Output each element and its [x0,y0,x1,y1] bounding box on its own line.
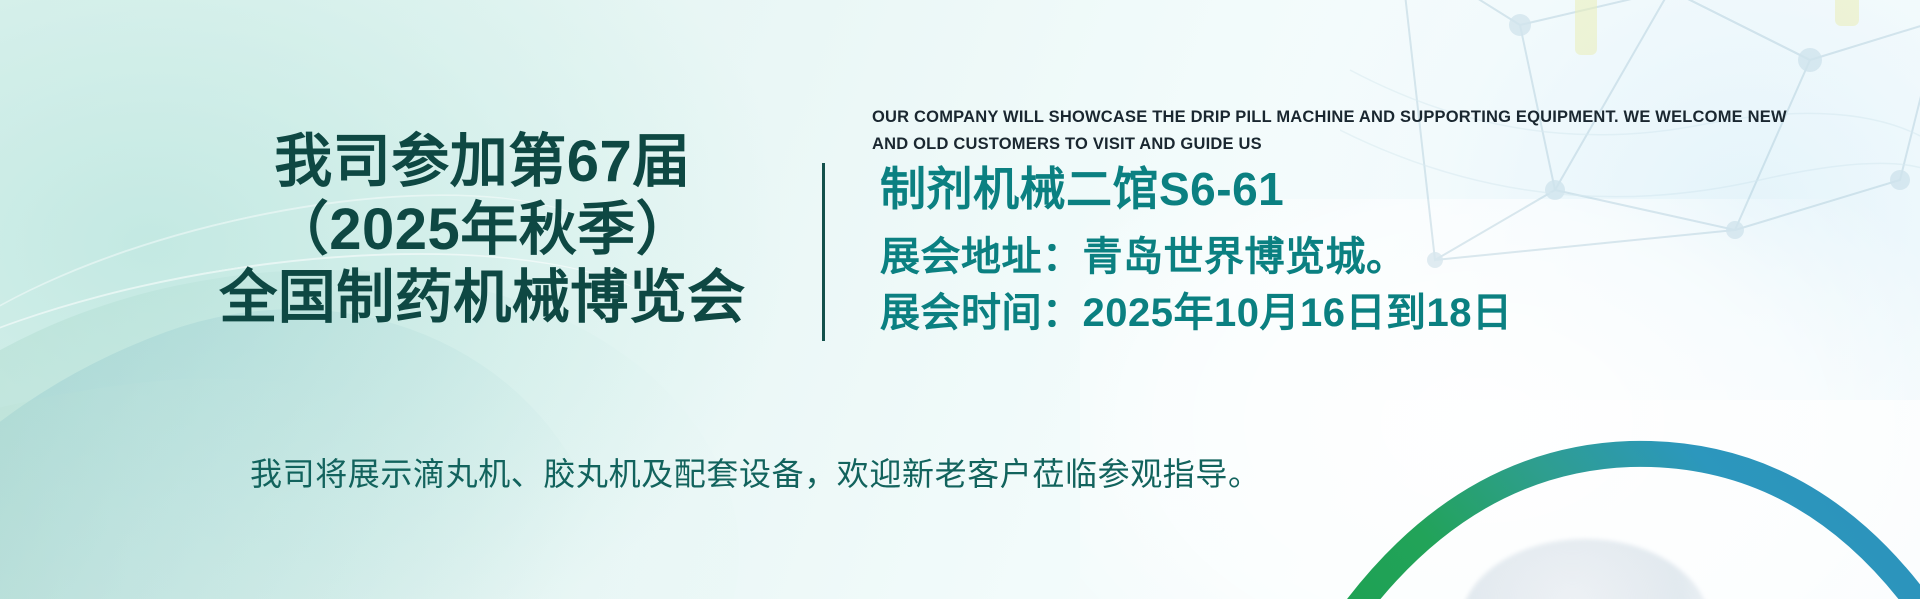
booth-number: 制剂机械二馆S6-61 [880,165,1512,215]
exhibition-info-block: 制剂机械二馆S6-61 展会地址：青岛世界博览城。 展会时间：2025年10月1… [880,165,1512,342]
headline-line-3: 全国制药机械博览会 [150,264,815,332]
english-subtitle: OUR COMPANY WILL SHOWCASE THE DRIP PILL … [872,104,1788,157]
exhibition-address: 展会地址：青岛世界博览城。 [880,229,1512,286]
headline-line-1: 我司参加第67届 [150,128,815,196]
main-headline: 我司参加第67届 （2025年秋季） 全国制药机械博览会 [150,128,815,332]
tagline-text: 我司将展示滴丸机、胶丸机及配套设备，欢迎新老客户莅临参观指导。 [250,449,1261,495]
headline-line-2: （2025年秋季） [150,196,815,264]
vertical-divider [822,163,825,341]
exhibition-date: 展会时间：2025年10月16日到18日 [880,285,1512,342]
exhibition-banner: 我司参加第67届 （2025年秋季） 全国制药机械博览会 OUR COMPANY… [0,0,1920,599]
banner-content: 我司参加第67届 （2025年秋季） 全国制药机械博览会 OUR COMPANY… [0,0,1920,599]
